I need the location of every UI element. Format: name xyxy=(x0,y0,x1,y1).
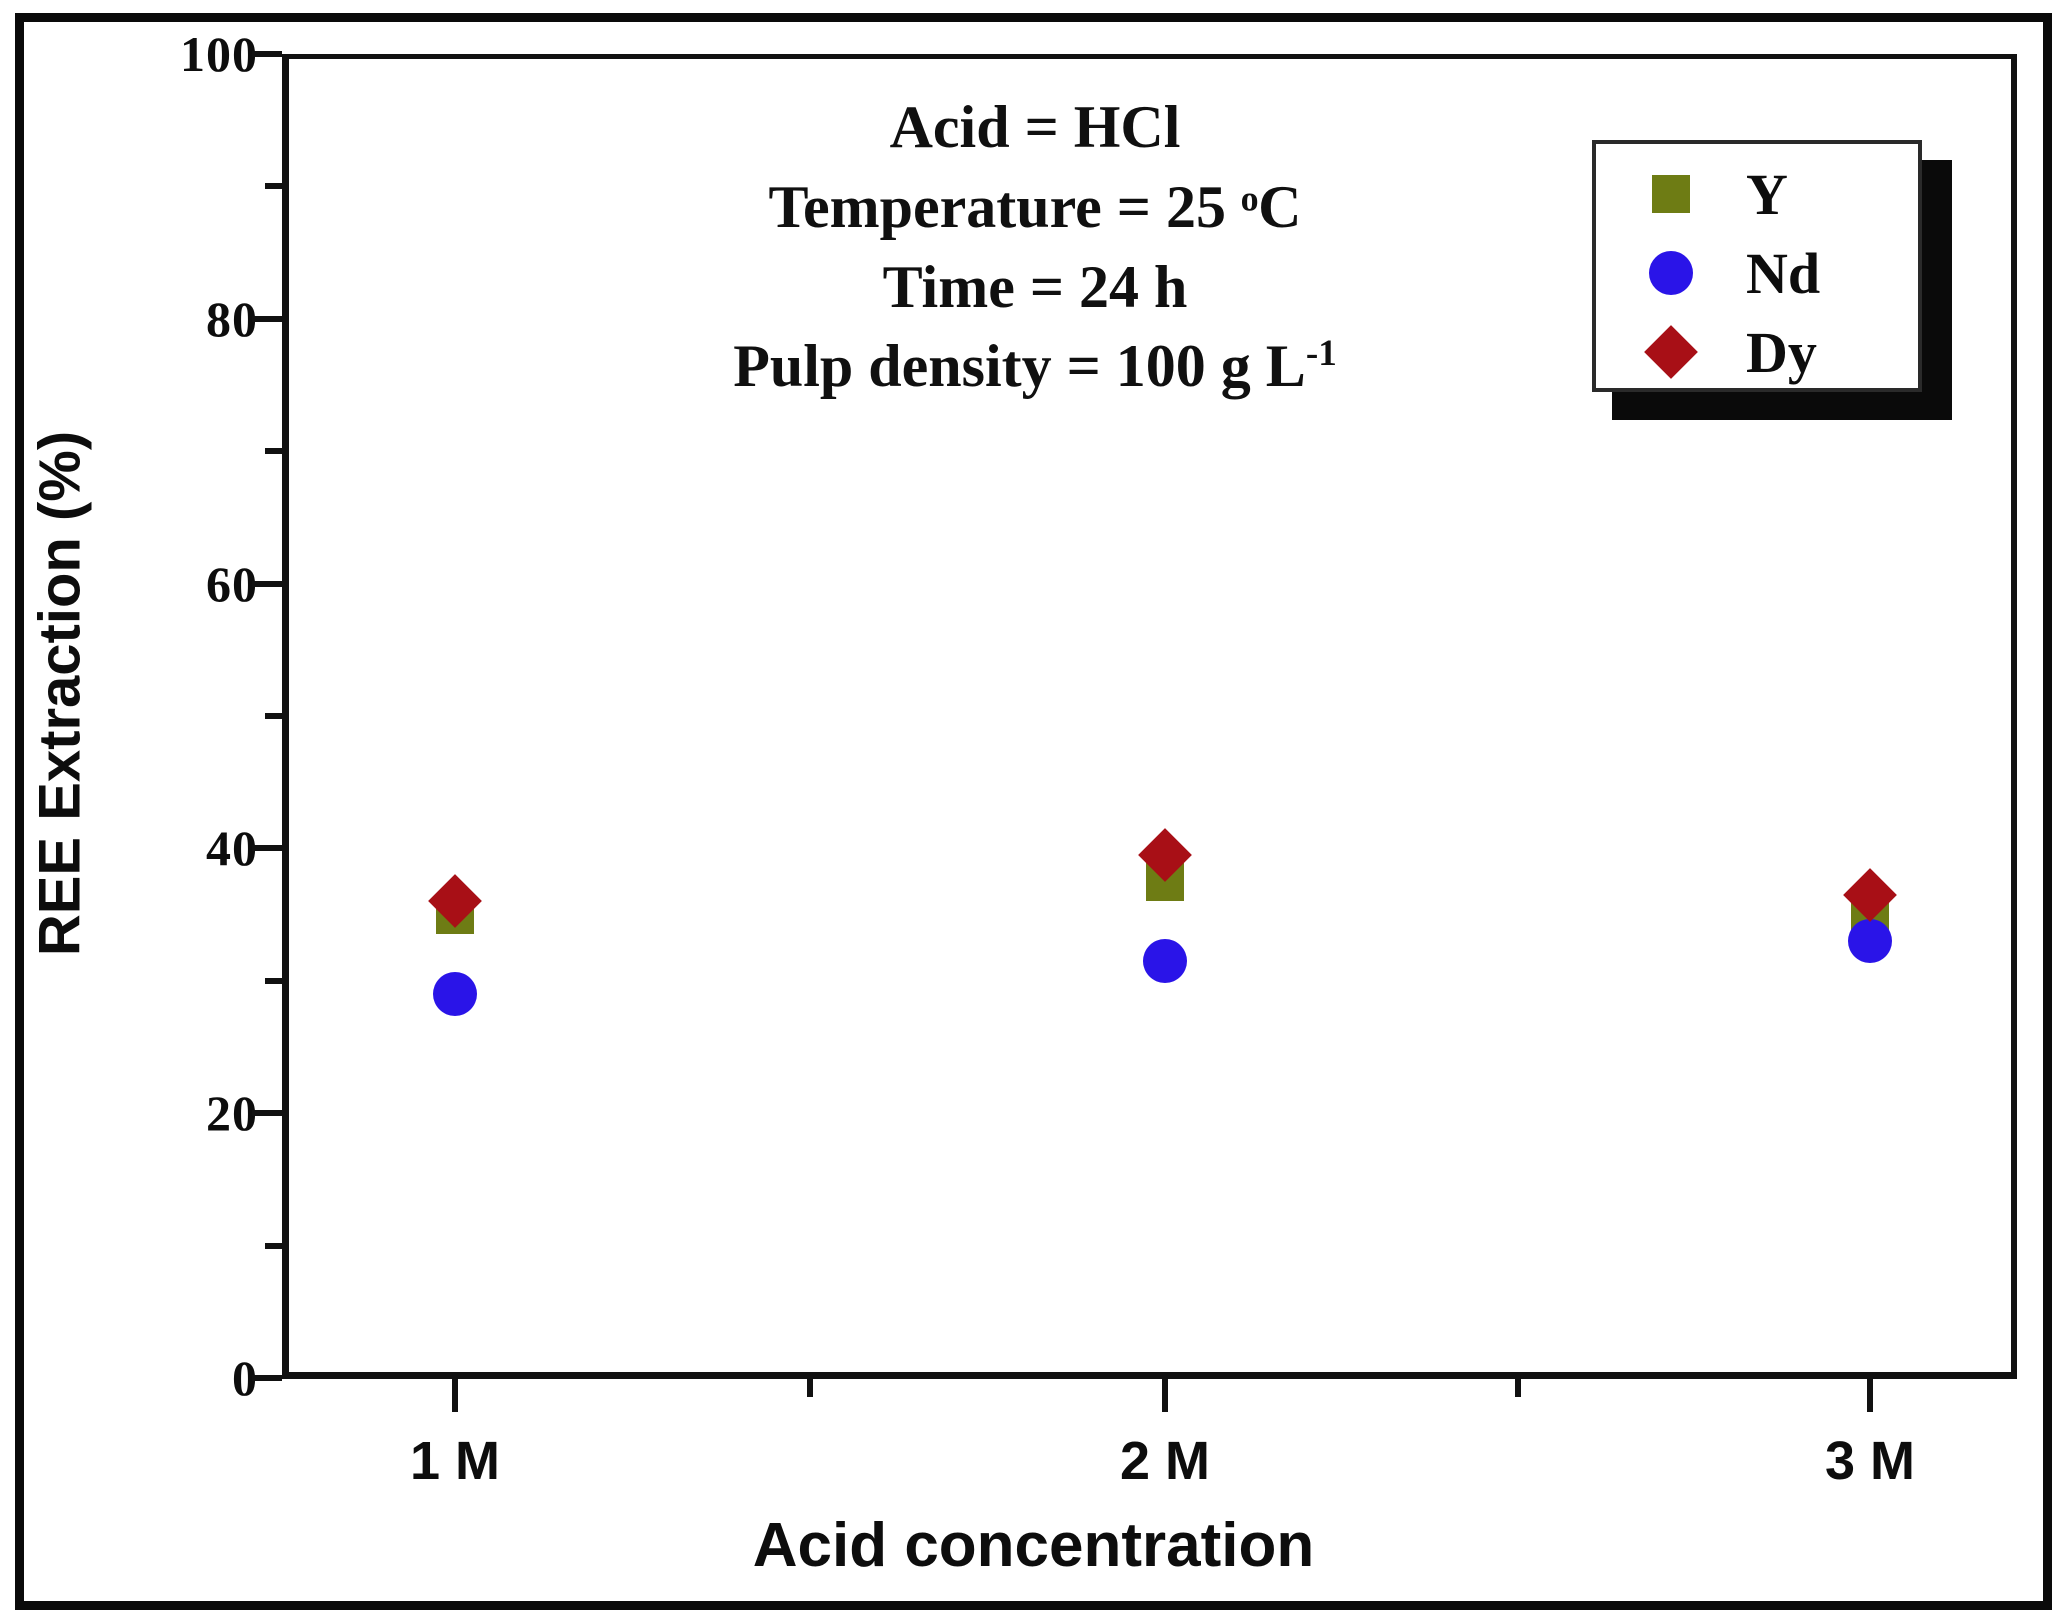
y-tick-label: 80 xyxy=(206,290,258,348)
x-tick-major xyxy=(1867,1378,1873,1412)
annotation-line: Pulp density = 100 g L-1 xyxy=(560,327,1510,407)
y-tick-major xyxy=(252,51,282,57)
figure-root: 020406080100 Acid = HClTemperature = 25 … xyxy=(0,0,2067,1624)
y-tick-minor xyxy=(265,978,282,984)
legend-entry-nd[interactable]: Nd xyxy=(1596,231,1918,315)
x-axis-title: Acid concentration xyxy=(0,1510,2067,1581)
y-tick-minor xyxy=(265,183,282,189)
y-tick-label: 100 xyxy=(180,25,258,83)
x-tick-label: 2 M xyxy=(1120,1430,1210,1492)
x-tick-label: 1 M xyxy=(410,1430,500,1492)
y-tick-minor xyxy=(265,713,282,719)
annotation-block: Acid = HClTemperature = 25 ᵒCTime = 24 h… xyxy=(560,88,1510,407)
x-tick-label: 3 M xyxy=(1825,1430,1915,1492)
legend-marker-diamond-icon xyxy=(1596,333,1746,371)
y-tick-major xyxy=(252,845,282,851)
legend-entry-dy[interactable]: Dy xyxy=(1596,310,1918,394)
data-point-nd xyxy=(1143,939,1187,983)
annotation-line: Temperature = 25 ᵒC xyxy=(560,168,1510,248)
data-point-nd xyxy=(433,972,477,1016)
legend-label: Dy xyxy=(1746,319,1817,386)
legend-box: YNdDy xyxy=(1592,140,1922,392)
legend-entry-y[interactable]: Y xyxy=(1596,152,1918,236)
legend-marker-square-icon xyxy=(1596,175,1746,213)
annotation-superscript: -1 xyxy=(1306,333,1337,374)
y-tick-label: 40 xyxy=(206,819,258,877)
annotation-text: Pulp density = 100 g L xyxy=(733,333,1306,399)
y-tick-label: 60 xyxy=(206,555,258,613)
y-tick-minor xyxy=(265,1243,282,1249)
annotation-text: Temperature = 25 ᵒC xyxy=(769,174,1302,240)
y-tick-major xyxy=(252,581,282,587)
legend-label: Y xyxy=(1746,161,1788,228)
legend-marker-circle-icon xyxy=(1596,251,1746,295)
y-tick-label: 20 xyxy=(206,1084,258,1142)
x-tick-major xyxy=(452,1378,458,1412)
data-point-nd xyxy=(1848,919,1892,963)
y-tick-major xyxy=(252,1375,282,1381)
y-tick-minor xyxy=(265,448,282,454)
annotation-text: Acid = HCl xyxy=(890,94,1181,160)
y-tick-major xyxy=(252,316,282,322)
y-tick-major xyxy=(252,1110,282,1116)
legend-label: Nd xyxy=(1746,240,1820,307)
annotation-line: Acid = HCl xyxy=(560,88,1510,168)
annotation-text: Time = 24 h xyxy=(883,254,1188,320)
x-tick-major xyxy=(1162,1378,1168,1412)
x-tick-minor xyxy=(1515,1378,1521,1397)
y-axis-title: REE Extraction (%) xyxy=(27,314,94,1074)
x-tick-minor xyxy=(807,1378,813,1397)
annotation-line: Time = 24 h xyxy=(560,248,1510,328)
